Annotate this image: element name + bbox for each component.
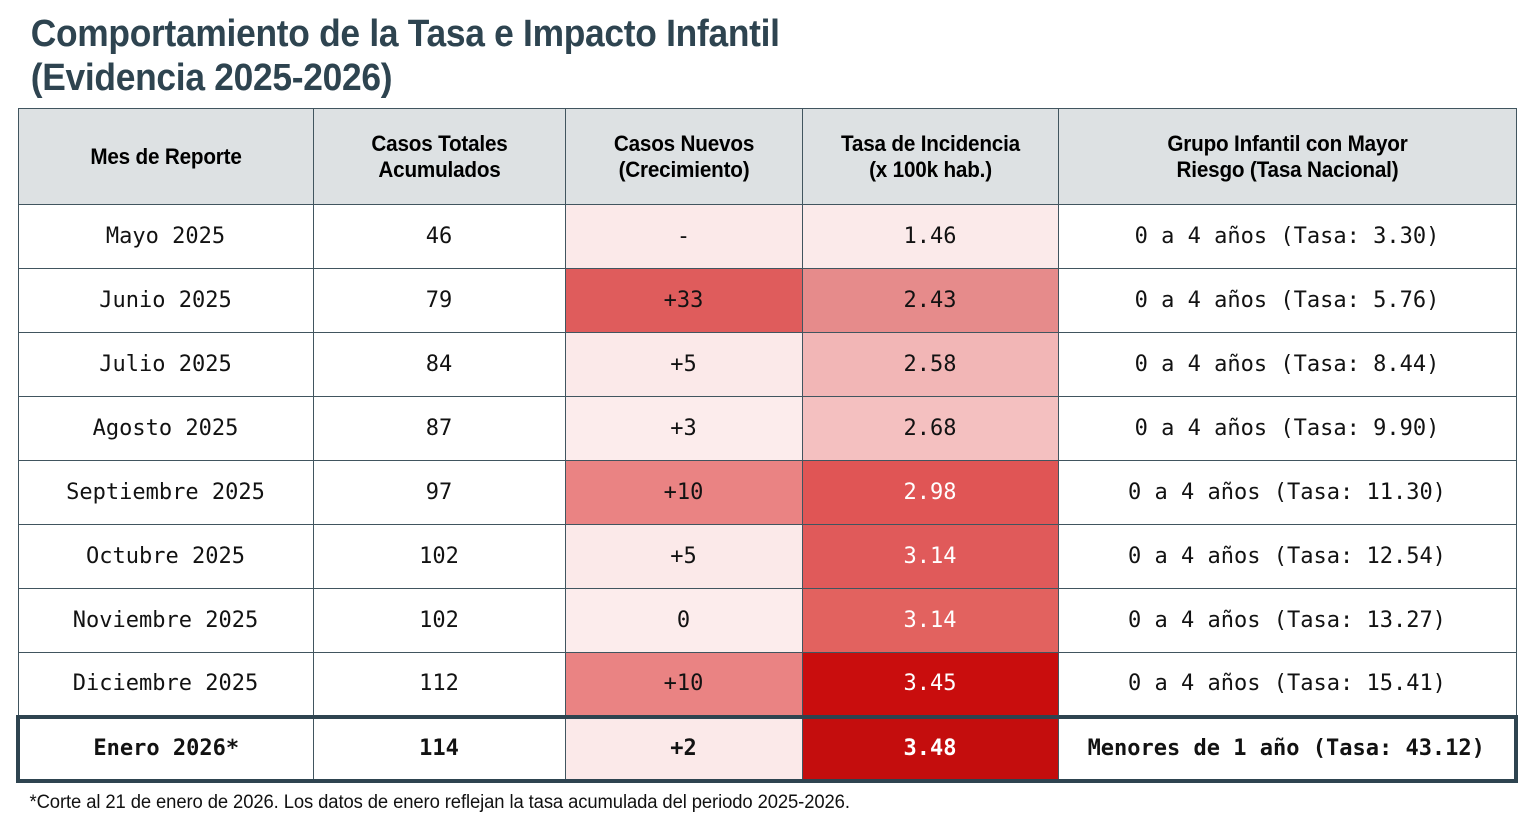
page-title: Comportamiento de la Tasa e Impacto Infa…	[14, 0, 1409, 108]
cell-new-cases: +5	[565, 525, 802, 589]
incidence-table: Mes de Reporte Casos Totales Acumulados …	[16, 108, 1518, 783]
cell-risk-group: 0 a 4 años (Tasa: 9.90)	[1058, 397, 1516, 461]
cell-total-cases: 97	[313, 461, 565, 525]
header-row: Mes de Reporte Casos Totales Acumulados …	[18, 109, 1516, 205]
cell-risk-group: 0 a 4 años (Tasa: 3.30)	[1058, 205, 1516, 269]
cell-month: Junio 2025	[18, 269, 313, 333]
cell-risk-group: 0 a 4 años (Tasa: 11.30)	[1058, 461, 1516, 525]
cell-incidence-rate: 2.58	[802, 333, 1058, 397]
cell-month: Septiembre 2025	[18, 461, 313, 525]
cell-month: Octubre 2025	[18, 525, 313, 589]
cell-month: Mayo 2025	[18, 205, 313, 269]
column-header-total-cases-label: Casos Totales Acumulados	[321, 131, 557, 183]
column-header-month: Mes de Reporte	[18, 109, 313, 205]
column-header-risk-group: Grupo Infantil con Mayor Riesgo (Tasa Na…	[1058, 109, 1516, 205]
cell-month: Diciembre 2025	[18, 653, 313, 717]
cell-risk-group: 0 a 4 años (Tasa: 8.44)	[1058, 333, 1516, 397]
cell-new-cases: +10	[565, 461, 802, 525]
cell-total-cases: 112	[313, 653, 565, 717]
column-header-risk-group-label: Grupo Infantil con Mayor Riesgo (Tasa Na…	[1072, 131, 1502, 183]
table-row: Mayo 202546-1.460 a 4 años (Tasa: 3.30)	[18, 205, 1516, 269]
cell-risk-group: Menores de 1 año (Tasa: 43.12)	[1058, 717, 1516, 781]
table-row: Octubre 2025102+53.140 a 4 años (Tasa: 1…	[18, 525, 1516, 589]
table-header: Mes de Reporte Casos Totales Acumulados …	[18, 109, 1516, 205]
column-header-incidence-rate-label: Tasa de Incidencia (x 100k hab.)	[810, 131, 1050, 183]
cell-incidence-rate: 2.43	[802, 269, 1058, 333]
cell-incidence-rate: 3.14	[802, 589, 1058, 653]
cell-total-cases: 84	[313, 333, 565, 397]
cell-incidence-rate: 3.14	[802, 525, 1058, 589]
cell-risk-group: 0 a 4 años (Tasa: 12.54)	[1058, 525, 1516, 589]
cell-month: Enero 2026*	[18, 717, 313, 781]
table-row: Julio 202584+52.580 a 4 años (Tasa: 8.44…	[18, 333, 1516, 397]
cell-new-cases: -	[565, 205, 802, 269]
cell-incidence-rate: 2.68	[802, 397, 1058, 461]
table-row: Noviembre 202510203.140 a 4 años (Tasa: …	[18, 589, 1516, 653]
table-row: Junio 202579+332.430 a 4 años (Tasa: 5.7…	[18, 269, 1516, 333]
cell-new-cases: +2	[565, 717, 802, 781]
cell-total-cases: 102	[313, 525, 565, 589]
table-row: Enero 2026*114+23.48Menores de 1 año (Ta…	[18, 717, 1516, 781]
cell-new-cases: +10	[565, 653, 802, 717]
cell-total-cases: 46	[313, 205, 565, 269]
cell-risk-group: 0 a 4 años (Tasa: 5.76)	[1058, 269, 1516, 333]
footnote: *Corte al 21 de enero de 2026. Los datos…	[14, 783, 1469, 814]
page-root: Comportamiento de la Tasa e Impacto Infa…	[0, 0, 1528, 832]
table-row: Diciembre 2025112+103.450 a 4 años (Tasa…	[18, 653, 1516, 717]
cell-month: Julio 2025	[18, 333, 313, 397]
cell-month: Agosto 2025	[18, 397, 313, 461]
cell-total-cases: 114	[313, 717, 565, 781]
cell-month: Noviembre 2025	[18, 589, 313, 653]
cell-total-cases: 79	[313, 269, 565, 333]
cell-incidence-rate: 2.98	[802, 461, 1058, 525]
column-header-incidence-rate: Tasa de Incidencia (x 100k hab.)	[802, 109, 1058, 205]
cell-new-cases: +5	[565, 333, 802, 397]
table-container: Mes de Reporte Casos Totales Acumulados …	[14, 108, 1514, 783]
cell-incidence-rate: 3.45	[802, 653, 1058, 717]
table-row: Septiembre 202597+102.980 a 4 años (Tasa…	[18, 461, 1516, 525]
cell-risk-group: 0 a 4 años (Tasa: 15.41)	[1058, 653, 1516, 717]
cell-new-cases: +3	[565, 397, 802, 461]
cell-new-cases: 0	[565, 589, 802, 653]
cell-total-cases: 87	[313, 397, 565, 461]
table-body: Mayo 202546-1.460 a 4 años (Tasa: 3.30)J…	[18, 205, 1516, 781]
cell-incidence-rate: 3.48	[802, 717, 1058, 781]
cell-risk-group: 0 a 4 años (Tasa: 13.27)	[1058, 589, 1516, 653]
column-header-month-label: Mes de Reporte	[27, 144, 303, 170]
cell-new-cases: +33	[565, 269, 802, 333]
column-header-new-cases: Casos Nuevos (Crecimiento)	[565, 109, 802, 205]
column-header-total-cases: Casos Totales Acumulados	[313, 109, 565, 205]
cell-incidence-rate: 1.46	[802, 205, 1058, 269]
column-header-new-cases-label: Casos Nuevos (Crecimiento)	[573, 131, 795, 183]
cell-total-cases: 102	[313, 589, 565, 653]
table-row: Agosto 202587+32.680 a 4 años (Tasa: 9.9…	[18, 397, 1516, 461]
